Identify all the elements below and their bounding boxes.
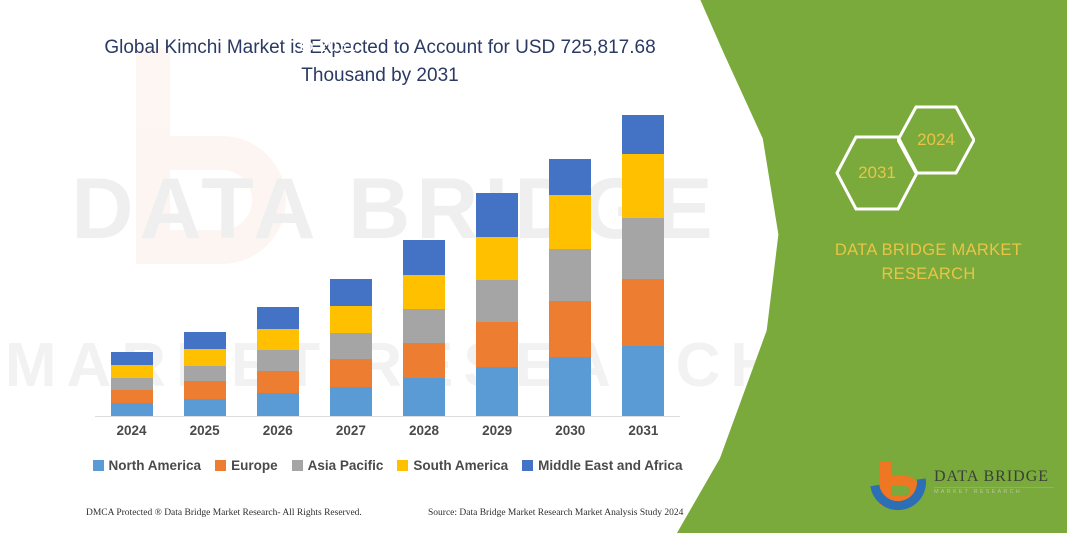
bar-segment — [622, 218, 664, 279]
bar-segment — [330, 333, 372, 359]
bar-column-2026 — [257, 307, 299, 417]
bar-column-2031 — [622, 115, 664, 417]
legend-swatch-icon — [215, 460, 226, 471]
bar-segment — [622, 279, 664, 346]
x-axis-tick-2030: 2030 — [534, 423, 606, 438]
legend-swatch-icon — [292, 460, 303, 471]
bar-segment — [184, 399, 226, 417]
legend-label: Middle East and Africa — [538, 458, 682, 473]
bar-segment — [403, 309, 445, 342]
brand-panel-title: Global Kimchi Market, By Regions, 2024 t… — [36, 8, 356, 58]
bar-segment — [403, 378, 445, 417]
x-axis-tick-2025: 2025 — [169, 423, 241, 438]
bar-segment — [111, 365, 153, 378]
legend-swatch-icon — [397, 460, 408, 471]
bar-column-2030 — [549, 159, 591, 417]
x-axis-tick-2028: 2028 — [388, 423, 460, 438]
bar-segment — [476, 237, 518, 280]
legend-label: North America — [109, 458, 202, 473]
bar-segment — [476, 280, 518, 322]
legend-label: South America — [413, 458, 508, 473]
chart-panel: DATA BRIDGE MARKET RESEARCH Global Kimch… — [0, 0, 790, 533]
bar-segment — [257, 393, 299, 417]
legend-swatch-icon — [93, 460, 104, 471]
x-axis-labels: 20242025202620272028202920302031 — [95, 423, 680, 445]
bar-segment — [257, 350, 299, 370]
bar-segment — [111, 352, 153, 365]
data-bridge-logo-icon: DATA BRIDGE MARKET RESEARCH — [872, 460, 1062, 512]
legend-item[interactable]: Middle East and Africa — [522, 458, 682, 473]
bar-segment — [549, 159, 591, 195]
bar-segment — [257, 329, 299, 351]
bar-segment — [184, 381, 226, 398]
footer: DMCA Protected ® Data Bridge Market Rese… — [0, 506, 790, 526]
bar-column-2029 — [476, 193, 518, 417]
bar-segment — [184, 366, 226, 381]
legend-item[interactable]: Asia Pacific — [292, 458, 384, 473]
bar-segment — [111, 403, 153, 417]
legend-item[interactable]: North America — [93, 458, 202, 473]
bar-column-2028 — [403, 240, 445, 417]
bar-segment — [549, 249, 591, 301]
bar-segment — [111, 390, 153, 403]
bar-segment — [330, 306, 372, 333]
infographic-page: DATA BRIDGE MARKET RESEARCH Global Kimch… — [0, 0, 1067, 533]
bar-segment — [330, 387, 372, 417]
brand-name: DATA BRIDGE MARKET RESEARCH — [790, 238, 1067, 286]
bar-segment — [330, 279, 372, 306]
bar-segment — [403, 275, 445, 310]
legend-swatch-icon — [522, 460, 533, 471]
bar-segment — [549, 301, 591, 357]
x-axis-tick-2031: 2031 — [607, 423, 679, 438]
legend-label: Europe — [231, 458, 278, 473]
x-axis-tick-2029: 2029 — [461, 423, 533, 438]
bar-segment — [476, 193, 518, 237]
bar-segment — [403, 240, 445, 275]
x-axis-tick-2027: 2027 — [315, 423, 387, 438]
bar-column-2027 — [330, 279, 372, 417]
bar-column-2024 — [111, 352, 153, 417]
x-axis-tick-2024: 2024 — [96, 423, 168, 438]
footer-source: Source: Data Bridge Market Research Mark… — [428, 508, 683, 518]
bar-segment — [111, 378, 153, 390]
legend-item[interactable]: Europe — [215, 458, 278, 473]
bar-segment — [549, 195, 591, 249]
chart-legend: North AmericaEuropeAsia PacificSouth Ame… — [95, 455, 680, 475]
footer-copyright: DMCA Protected ® Data Bridge Market Rese… — [86, 508, 362, 518]
stacked-bar-chart — [95, 115, 680, 417]
bar-segment — [184, 332, 226, 349]
logo-tagline: MARKET RESEARCH — [934, 489, 1022, 495]
legend-item[interactable]: South America — [397, 458, 508, 473]
hexagon-end-year-label: 2031 — [858, 163, 896, 183]
bar-segment — [476, 322, 518, 367]
x-axis-tick-2026: 2026 — [242, 423, 314, 438]
x-axis-line — [95, 416, 680, 417]
bar-segment — [257, 371, 299, 394]
hexagon-badge-end-year: 2031 — [835, 135, 919, 211]
bar-segment — [476, 367, 518, 417]
bar-segment — [257, 307, 299, 329]
bar-segment — [622, 346, 664, 417]
bar-column-2025 — [184, 332, 226, 417]
bar-segment — [330, 359, 372, 387]
bar-segment — [403, 343, 445, 379]
bar-segment — [184, 349, 226, 366]
bar-segment — [622, 154, 664, 218]
bar-segment — [622, 115, 664, 154]
bar-segment — [549, 357, 591, 417]
hexagon-start-year-label: 2024 — [917, 130, 955, 150]
logo-wordmark: DATA BRIDGE — [934, 468, 1049, 486]
legend-label: Asia Pacific — [308, 458, 384, 473]
